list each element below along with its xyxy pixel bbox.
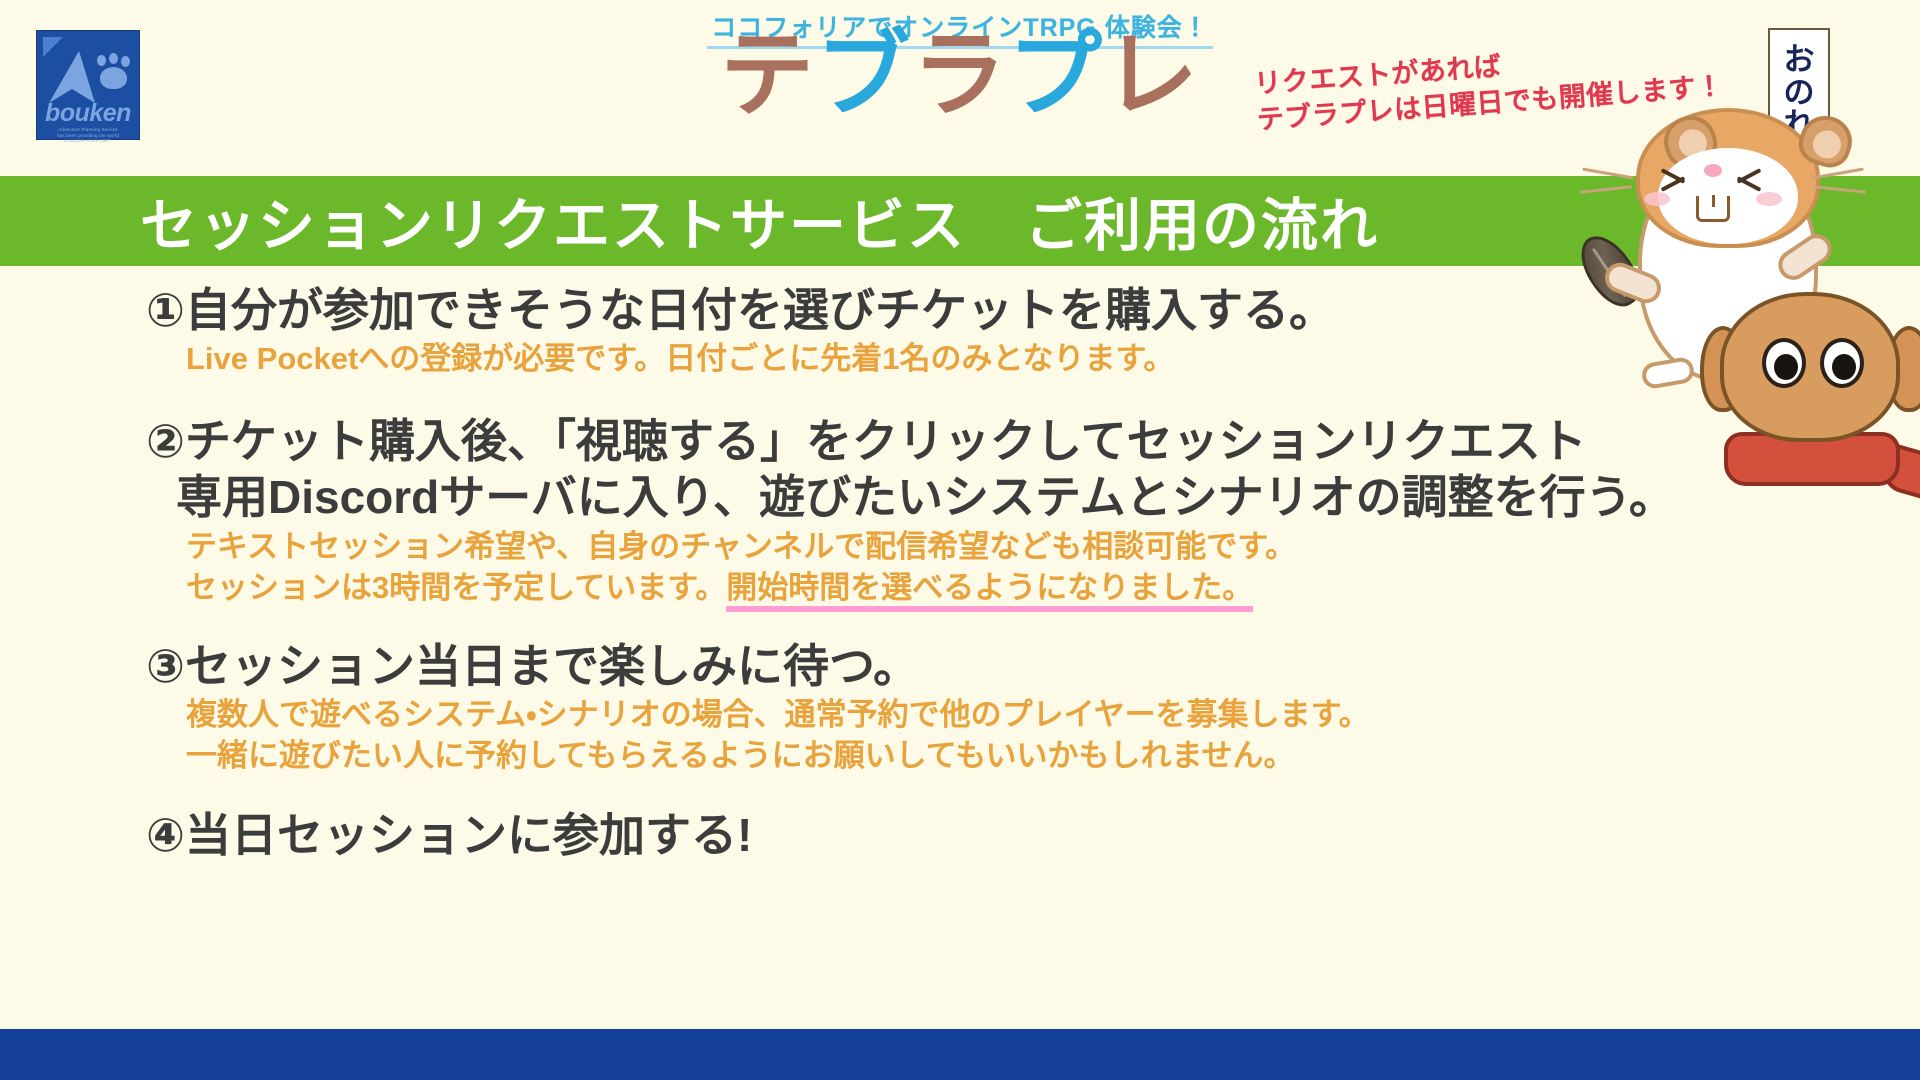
brand-char-5: レ xyxy=(1104,22,1200,127)
hamster-blush-right xyxy=(1756,192,1782,206)
step-3-sub-1: 複数人で遊べるシステム・シナリオの場合、通常予約で他のプレイヤーを募集します。 xyxy=(0,694,1920,735)
step-2-sub-1: テキストセッション希望や、自身のチャンネルで配信希望なども相談可能です。 xyxy=(0,526,1920,567)
dog-head xyxy=(1720,292,1900,442)
hamster-ear-right xyxy=(1794,109,1859,173)
hamster-nose xyxy=(1704,164,1722,177)
banner-title: セッションリクエストサービス ご利用の流れ xyxy=(140,180,1379,262)
dog-mascot xyxy=(1700,282,1920,502)
mascot-group: お の れ xyxy=(1540,20,1920,500)
brand-char-2: ブ xyxy=(816,22,912,127)
hamster-eye-right xyxy=(1736,170,1766,190)
brand-char-4: プ xyxy=(1008,22,1104,127)
step-item-4: ④当日セッションに参加する! xyxy=(0,807,1920,863)
brand-char-1: テ xyxy=(720,22,816,127)
step-item-3: ③セッション当日まで楽しみに待つ。 複数人で遊べるシステム・シナリオの場合、通常… xyxy=(0,638,1920,777)
step-2-sub-2-highlight: 開始時間を選べるようになりました。 xyxy=(726,570,1253,612)
step-3-sub-2: 一緒に遊びたい人に予約してもらえるようにお願いしてもいいかもしれません。 xyxy=(0,735,1920,776)
hamster-mouth xyxy=(1696,196,1730,222)
step-4-main: ④当日セッションに参加する! xyxy=(0,807,1920,863)
dog-eye-right xyxy=(1820,338,1864,388)
hamster-blush-left xyxy=(1644,192,1670,206)
hamster-whisker-2 xyxy=(1580,185,1632,193)
dog-eye-left xyxy=(1762,338,1806,388)
hamster-eye-left xyxy=(1660,170,1690,190)
hamster-whisker-1 xyxy=(1582,168,1634,180)
slide-canvas: bouken Adventure Planning Service has be… xyxy=(0,0,1920,1080)
bottom-bar xyxy=(0,1024,1920,1080)
logo-fineprint-line-3: a surprise since 1987. xyxy=(37,138,139,144)
sign-text-char-1: お xyxy=(1784,44,1815,77)
logo-fineprint: Adventure Planning Service has been prov… xyxy=(37,127,139,144)
hamster-foot-left xyxy=(1640,356,1696,391)
brand-char-3: ラ xyxy=(912,22,1008,127)
step-2-sub-2: セッションは3時間を予定しています。開始時間を選べるようになりました。 xyxy=(0,567,1920,608)
hamster-whisker-3 xyxy=(1812,168,1864,180)
step-2-sub-2-prefix: セッションは3時間を予定しています。 xyxy=(186,570,726,605)
bottom-bar-edge xyxy=(0,1024,1920,1029)
step-3-main: ③セッション当日まで楽しみに待つ。 xyxy=(0,638,1920,694)
step-2-main-line-1: ②チケット購入後、「視聴する」をクリックしてセッションリクエスト xyxy=(146,415,1587,467)
hamster-whisker-4 xyxy=(1814,185,1866,193)
